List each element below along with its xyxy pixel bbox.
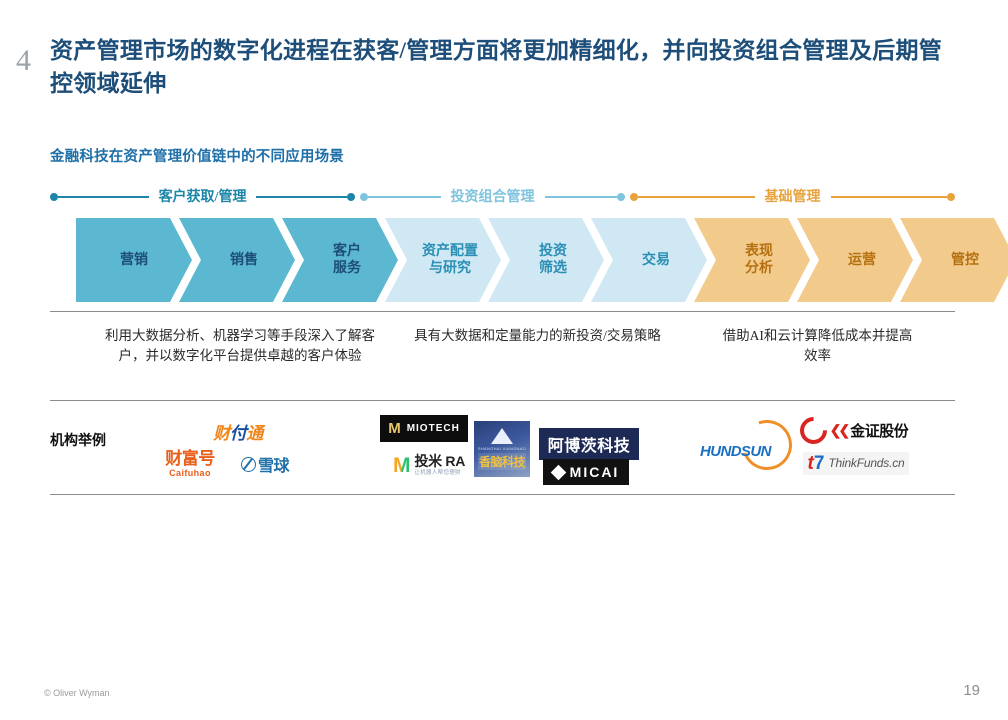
logo-abotsi: 阿博茨科技 <box>546 432 632 456</box>
phase-dot-end <box>347 193 355 201</box>
logo-micai: MICAI <box>540 461 632 483</box>
chevron-stage-6: 交易 <box>591 218 707 302</box>
chevron-stage-1: 营销 <box>76 218 192 302</box>
phase-group-1: 客户获取/管理 <box>50 186 355 208</box>
page-title: 资产管理市场的数字化进程在获客/管理方面将更加精细化，并向投资组合管理及后期管控… <box>50 34 955 100</box>
phase-line-right <box>831 196 948 198</box>
phase-dot-start <box>630 193 638 201</box>
logo-xueqiu: 雪球 <box>232 452 298 476</box>
description-1: 利用大数据分析、机器学习等手段深入了解客户，并以数字化平台提供卓越的客户体验 <box>95 326 385 366</box>
chevron-stage-5: 投资筛选 <box>488 218 604 302</box>
footer-page-number: 19 <box>963 682 980 699</box>
slide-root: 4 资产管理市场的数字化进程在获客/管理方面将更加精细化，并向投资组合管理及后期… <box>0 0 1008 720</box>
phase-line-left <box>638 196 755 198</box>
chevron-stage-4: 资产配置与研究 <box>385 218 501 302</box>
chevron-stage-2: 销售 <box>179 218 295 302</box>
chevron-label: 表现分析 <box>731 243 773 277</box>
chevron-stage-3: 客户服务 <box>282 218 398 302</box>
phase-dot-start <box>50 193 58 201</box>
chevron-label: 运营 <box>834 252 876 269</box>
logo-miotech: MMIOTECH <box>388 417 460 439</box>
phase-bar: 客户获取/管理投资组合管理基础管理 <box>50 186 955 210</box>
description-3: 借助AI和云计算降低成本并提高效率 <box>720 326 915 366</box>
logo-toumi-ra: M投米 RA让机器人帮您理财 <box>386 452 472 478</box>
chevron-label: 管控 <box>937 252 979 269</box>
logo-hundsun: HUNDSUN <box>700 420 792 468</box>
chevron-stage-7: 表现分析 <box>694 218 810 302</box>
chevron-label: 销售 <box>216 252 258 269</box>
chevron-label: 交易 <box>628 252 670 269</box>
logo-section-label: 机构举例 <box>50 430 106 450</box>
phase-line-left <box>368 196 441 198</box>
phase-dot-end <box>617 193 625 201</box>
chevron-label: 客户服务 <box>319 243 361 277</box>
phase-label: 客户获取/管理 <box>149 186 257 206</box>
divider-bottom <box>50 494 955 495</box>
footer-copyright: © Oliver Wyman <box>44 688 110 698</box>
logo-caifuhao: 财富号Caifuhao <box>152 450 228 478</box>
phase-group-2: 投资组合管理 <box>360 186 625 208</box>
phase-line-left <box>58 196 149 198</box>
chevron-label: 营销 <box>120 252 148 269</box>
phase-group-3: 基础管理 <box>630 186 955 208</box>
divider-middle <box>50 400 955 401</box>
phase-line-right <box>545 196 618 198</box>
divider-top <box>50 311 955 312</box>
chevron-stage-9: 管控 <box>900 218 1008 302</box>
phase-label: 基础管理 <box>755 186 831 206</box>
phase-dot-start <box>360 193 368 201</box>
phase-label: 投资组合管理 <box>441 186 545 206</box>
chevron-label: 投资筛选 <box>525 243 567 277</box>
phase-line-right <box>256 196 347 198</box>
logo-thinkfunds: t7ThinkFunds.cn <box>800 450 912 476</box>
logo-xiangnao: SHANGHAI XIANGNAO香脑科技 <box>474 421 530 477</box>
phase-dot-end <box>947 193 955 201</box>
chevron-stage-8: 运营 <box>797 218 913 302</box>
chevron-label: 资产配置与研究 <box>408 243 478 277</box>
logo-jinzheng: ❮❮金证股份 <box>806 418 902 442</box>
section-subtitle: 金融科技在资产管理价值链中的不同应用场景 <box>50 145 344 166</box>
slide-number: 4 <box>16 44 31 78</box>
description-2: 具有大数据和定量能力的新投资/交易策略 <box>405 326 670 346</box>
description-row: 利用大数据分析、机器学习等手段深入了解客户，并以数字化平台提供卓越的客户体验具有… <box>50 326 955 388</box>
logo-licaitong: 财付通 <box>184 418 292 444</box>
